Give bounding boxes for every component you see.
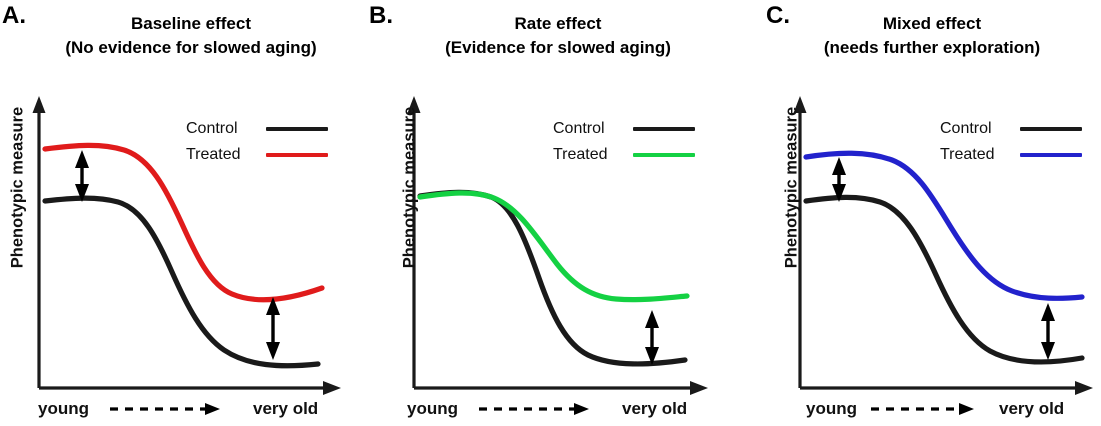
panel-b-x-tick-young: young	[407, 399, 458, 419]
panel-b-legend-label-treated: Treated	[553, 146, 619, 164]
panel-c-age-progression-arrow	[871, 403, 974, 415]
panel-c-treated-curve	[806, 153, 1082, 298]
panel-c-legend-label-control: Control	[940, 120, 1006, 138]
panel-a-x-tick-very-old: very old	[253, 399, 318, 419]
panel-b-x-tick-very-old: very old	[622, 399, 687, 419]
panel-a-arrow-young-gap	[75, 150, 89, 202]
panel-b-age-progression-arrow	[479, 403, 589, 415]
panel-c-y-axis-label: Phenotypic measure	[783, 88, 802, 288]
panel-b-arrow-old-gap	[645, 0, 734, 365]
panel-a-plot	[0, 0, 367, 426]
panel-b-x-axis	[414, 381, 708, 395]
panel-a-y-axis-label: Phenotypic measure	[9, 88, 28, 288]
panel-a-legend: Control Treated	[186, 116, 328, 168]
panel-b: B. Rate effect (Evidence for slowed agin…	[367, 0, 734, 426]
panel-a-age-progression-arrow	[110, 403, 220, 415]
panel-a-legend-label-control: Control	[186, 120, 252, 138]
panel-b-treated-curve	[420, 193, 687, 300]
panel-c-control-curve	[806, 197, 1082, 362]
panel-c-legend-item-treated: Treated	[940, 142, 1082, 168]
panel-b-legend-label-control: Control	[553, 120, 619, 138]
panel-b-legend-item-control: Control	[553, 116, 695, 142]
panel-a-legend-swatch-control	[266, 127, 328, 131]
panel-a-y-axis	[33, 96, 46, 388]
panel-c: C. Mixed effect (needs further explorati…	[734, 0, 1101, 426]
panel-b-control-curve	[420, 192, 685, 364]
panel-c-legend: Control Treated	[940, 116, 1082, 168]
panel-b-plot	[367, 0, 734, 426]
panel-c-legend-swatch-treated	[1020, 153, 1082, 157]
panel-a-legend-swatch-treated	[266, 153, 328, 157]
panel-b-legend: Control Treated	[553, 116, 695, 168]
panel-b-y-axis-label: Phenotypic measure	[401, 88, 420, 288]
panel-a-legend-label-treated: Treated	[186, 146, 252, 164]
panel-a-legend-item-treated: Treated	[186, 142, 328, 168]
panel-c-x-axis	[800, 381, 1093, 395]
figure-root: A. Baseline effect (No evidence for slow…	[0, 0, 1101, 426]
panel-a-x-axis	[39, 381, 341, 395]
panel-a-arrow-old-gap	[266, 297, 280, 360]
panel-b-legend-swatch-control	[633, 127, 695, 131]
panel-a-legend-item-control: Control	[186, 116, 328, 142]
panel-b-legend-item-treated: Treated	[553, 142, 695, 168]
panel-b-legend-swatch-treated	[633, 153, 695, 157]
panel-c-legend-swatch-control	[1020, 127, 1082, 131]
panel-c-legend-item-control: Control	[940, 116, 1082, 142]
panel-c-legend-label-treated: Treated	[940, 146, 1006, 164]
panel-a-treated-curve	[45, 145, 322, 299]
panel-c-x-tick-young: young	[806, 399, 857, 419]
panel-c-arrow-old-gap	[1041, 303, 1055, 360]
panel-a: A. Baseline effect (No evidence for slow…	[0, 0, 367, 426]
panel-c-x-tick-very-old: very old	[999, 399, 1064, 419]
panel-a-x-tick-young: young	[38, 399, 89, 419]
